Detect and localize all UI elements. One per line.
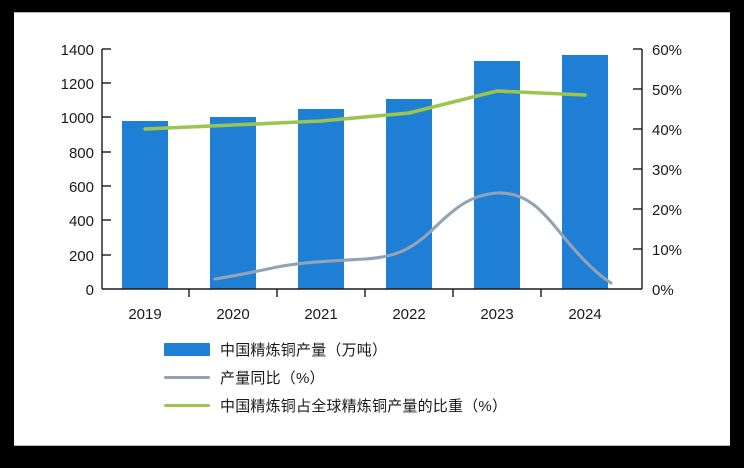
legend-item-yoy[interactable]: 产量同比（%）: [164, 363, 684, 391]
combo-chart-svg: 1400 1200 1000 800 600 400 200 0: [14, 13, 730, 343]
right-tick-label-50: 50%: [652, 82, 682, 99]
right-tick-label-20: 20%: [652, 202, 682, 219]
bar-2020[interactable]: [210, 117, 256, 289]
x-label-2022: 2022: [392, 306, 425, 323]
bar-2024[interactable]: [562, 55, 608, 289]
x-label-2020: 2020: [216, 306, 249, 323]
left-tick-label-400: 400: [69, 213, 94, 230]
plot-area: 1400 1200 1000 800 600 400 200 0: [14, 13, 730, 343]
x-axis: [102, 289, 642, 297]
x-category-labels: 2019 2020 2021 2022 2023 2024: [128, 306, 601, 323]
right-tick-label-40: 40%: [652, 122, 682, 139]
x-label-2019: 2019: [128, 306, 161, 323]
x-label-2021: 2021: [304, 306, 337, 323]
bar-2022[interactable]: [386, 99, 432, 289]
left-axis: 1400 1200 1000 800 600 400 200 0: [61, 42, 111, 299]
right-tick-label-10: 10%: [652, 242, 682, 259]
right-axis: 60% 50% 40% 30% 20% 10% 0%: [633, 42, 682, 299]
right-tick-label-30: 30%: [652, 162, 682, 179]
x-label-2024: 2024: [568, 306, 601, 323]
left-tick-label-1000: 1000: [61, 110, 94, 127]
left-tick-label-600: 600: [69, 179, 94, 196]
left-tick-label-0: 0: [86, 282, 94, 299]
legend-swatch-bar-icon: [164, 343, 210, 356]
x-label-2023: 2023: [480, 306, 513, 323]
legend-label-share: 中国精炼铜占全球精炼铜产量的比重（%）: [220, 395, 507, 416]
left-tick-label-1400: 1400: [61, 42, 94, 59]
left-tick-label-1200: 1200: [61, 76, 94, 93]
left-tick-label-200: 200: [69, 248, 94, 265]
chart-card: 1400 1200 1000 800 600 400 200 0: [14, 12, 730, 446]
legend-label-yoy: 产量同比（%）: [220, 367, 325, 388]
right-tick-label-60: 60%: [652, 42, 682, 59]
bar-2019[interactable]: [122, 121, 168, 289]
chart-legend: 中国精炼铜产量（万吨） 产量同比（%） 中国精炼铜占全球精炼铜产量的比重（%）: [164, 335, 684, 419]
chart-page: 1400 1200 1000 800 600 400 200 0: [0, 0, 744, 468]
legend-swatch-line-gray-icon: [164, 370, 210, 384]
bar-series: [122, 55, 608, 289]
legend-item-share[interactable]: 中国精炼铜占全球精炼铜产量的比重（%）: [164, 391, 684, 419]
legend-label-production: 中国精炼铜产量（万吨）: [220, 339, 387, 360]
right-tick-label-0: 0%: [652, 282, 674, 299]
legend-item-production[interactable]: 中国精炼铜产量（万吨）: [164, 335, 684, 363]
left-tick-label-800: 800: [69, 145, 94, 162]
legend-swatch-line-green-icon: [164, 398, 210, 412]
